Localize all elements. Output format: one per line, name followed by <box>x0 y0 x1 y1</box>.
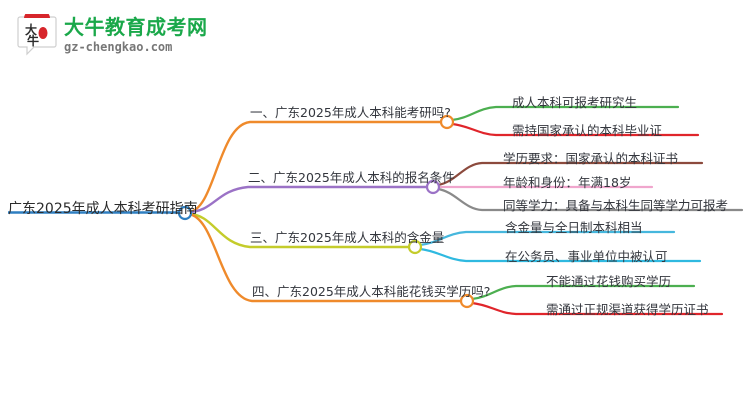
mindmap-branch-1-label[interactable]: 一、广东2025年成人本科能考研吗? <box>250 102 451 121</box>
bull-speech-bubble-logo-icon: 大 牛 <box>16 14 58 56</box>
mindmap-branch-2-label[interactable]: 二、广东2025年成人本科的报名条件 <box>248 167 455 186</box>
mindmap-branch-3-label[interactable]: 三、广东2025年成人本科的含金量 <box>250 227 444 246</box>
svg-text:牛: 牛 <box>27 33 39 48</box>
mindmap-leaf-2-3-label[interactable]: 同等学力：具备与本科生同等学力可报考 <box>503 195 728 214</box>
mindmap-branch-4-label[interactable]: 四、广东2025年成人本科能花钱买学历吗? <box>252 281 490 300</box>
mindmap-leaf-2-1-label[interactable]: 学历要求：国家承认的本科证书 <box>503 148 678 167</box>
mindmap-leaf-1-2-label[interactable]: 需持国家承认的本科毕业证 <box>512 120 662 139</box>
branch-2-connector <box>188 187 428 212</box>
logo-text-block: 大牛教育成考网 gz-chengkao.com <box>64 16 208 55</box>
logo-subtitle: gz-chengkao.com <box>64 40 208 55</box>
site-logo[interactable]: 大 牛 大牛教育成考网 gz-chengkao.com <box>16 12 236 62</box>
mindmap-leaf-4-2-label[interactable]: 需通过正规渠道获得学历证书 <box>546 299 709 318</box>
mindmap-leaf-1-1-label[interactable]: 成人本科可报考研究生 <box>512 92 637 111</box>
logo-title: 大牛教育成考网 <box>64 16 208 38</box>
mindmap-leaf-3-1-label[interactable]: 含金量与全日制本科相当 <box>505 217 643 236</box>
mindmap-leaf-2-2-label[interactable]: 年龄和身份：年满18岁 <box>503 172 631 191</box>
mindmap-root-label[interactable]: 广东2025年成人本科考研指南 <box>8 198 198 218</box>
mindmap-leaf-3-2-label[interactable]: 在公务员、事业单位中被认可 <box>505 246 668 265</box>
mindmap-leaf-4-1-label[interactable]: 不能通过花钱购买学历 <box>546 271 671 290</box>
